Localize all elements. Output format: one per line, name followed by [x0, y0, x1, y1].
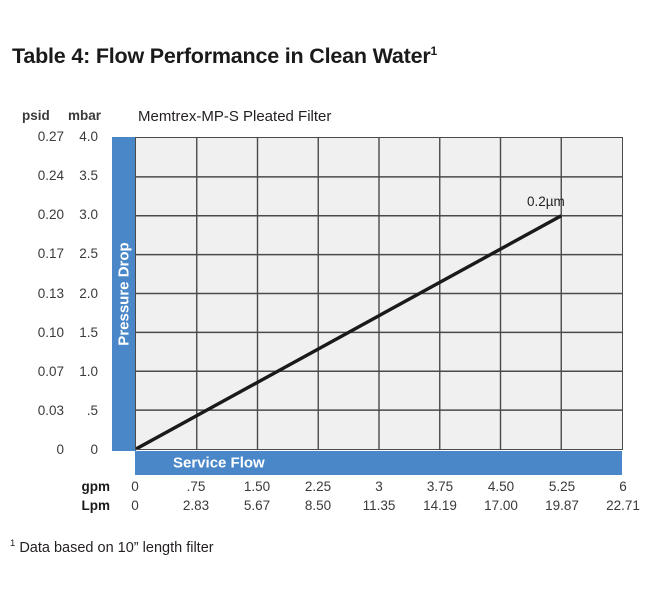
x-tick-lpm-6: 17.00 [466, 498, 536, 513]
y-tick-mbar-4: 2.0 [68, 286, 98, 301]
y-tick-mbar-1: 3.5 [68, 168, 98, 183]
y-tick-mbar-0: 4.0 [68, 129, 98, 144]
y-axis-unit-psid: psid [22, 108, 50, 123]
service-flow-label: Service Flow [173, 455, 265, 472]
y-tick-psid-2: 0.20 [38, 207, 64, 222]
x-axis-tick-labels: gpm 0.751.502.2533.754.505.256 Lpm 02.83… [0, 479, 650, 521]
y-tick-psid-3: 0.17 [38, 246, 64, 261]
y-tick-mbar-8: 0 [68, 442, 98, 457]
y-tick-mbar-3: 2.5 [68, 246, 98, 261]
x-tick-gpm-2: 1.50 [222, 479, 292, 494]
x-tick-gpm-3: 2.25 [283, 479, 353, 494]
footnote-text: Data based on 10” length filter [15, 540, 213, 556]
y-tick-3: 0.172.5 [20, 246, 112, 262]
pressure-drop-label: Pressure Drop [116, 242, 133, 345]
y-tick-4: 0.132.0 [20, 286, 112, 302]
y-tick-mbar-5: 1.5 [68, 325, 98, 340]
page-title-text: Table 4: Flow Performance in Clean Water [12, 44, 431, 68]
y-tick-mbar-2: 3.0 [68, 207, 98, 222]
x-tick-lpm-3: 8.50 [283, 498, 353, 513]
y-tick-6: 0.071.0 [20, 364, 112, 380]
y-tick-psid-0: 0.27 [38, 129, 64, 144]
y-tick-psid-4: 0.13 [38, 286, 64, 301]
x-tick-gpm-5: 3.75 [405, 479, 475, 494]
y-tick-psid-5: 0.10 [38, 325, 64, 340]
x-tick-lpm-8: 22.71 [588, 498, 650, 513]
chart-plot-area: 0.2µm [135, 137, 623, 450]
x-tick-lpm-5: 14.19 [405, 498, 475, 513]
y-tick-1: 0.243.5 [20, 168, 112, 184]
y-tick-psid-1: 0.24 [38, 168, 64, 183]
footnote: 1 Data based on 10” length filter [10, 538, 214, 556]
x-tick-gpm-4: 3 [344, 479, 414, 494]
x-tick-lpm-0: 0 [100, 498, 170, 513]
y-tick-psid-6: 0.07 [38, 364, 64, 379]
pressure-drop-axis-band: Pressure Drop [112, 137, 136, 451]
x-axis-row-gpm: gpm 0.751.502.2533.754.505.256 [0, 479, 650, 497]
x-tick-lpm-4: 11.35 [344, 498, 414, 513]
x-tick-lpm-2: 5.67 [222, 498, 292, 513]
x-tick-gpm-1: .75 [161, 479, 231, 494]
chart-title: Memtrex-MP-S Pleated Filter [138, 108, 331, 125]
chart-canvas [136, 138, 622, 449]
x-tick-gpm-0: 0 [100, 479, 170, 494]
chart-gridlines [136, 138, 622, 449]
service-flow-axis-band: Service Flow [135, 451, 622, 475]
y-tick-psid-8: 0 [56, 442, 64, 457]
page-title-superscript: 1 [431, 44, 437, 58]
x-tick-gpm-8: 6 [588, 479, 650, 494]
series-annotation-0-2um: 0.2µm [527, 194, 565, 209]
x-axis-row-lpm: Lpm 02.835.678.5011.3514.1917.0019.8722.… [0, 498, 650, 516]
y-tick-mbar-7: .5 [68, 403, 98, 418]
x-tick-gpm-6: 4.50 [466, 479, 536, 494]
x-tick-gpm-7: 5.25 [527, 479, 597, 494]
y-tick-5: 0.101.5 [20, 325, 112, 341]
y-tick-8: 00 [20, 442, 112, 458]
x-tick-lpm-1: 2.83 [161, 498, 231, 513]
y-tick-mbar-6: 1.0 [68, 364, 98, 379]
y-axis-tick-labels: 0.274.00.243.50.203.00.172.50.132.00.101… [20, 137, 112, 450]
y-tick-0: 0.274.0 [20, 129, 112, 145]
y-tick-7: 0.03.5 [20, 403, 112, 419]
y-axis-unit-mbar: mbar [68, 108, 101, 123]
page-title: Table 4: Flow Performance in Clean Water… [12, 44, 437, 69]
y-tick-2: 0.203.0 [20, 207, 112, 223]
y-tick-psid-7: 0.03 [38, 403, 64, 418]
x-tick-lpm-7: 19.87 [527, 498, 597, 513]
